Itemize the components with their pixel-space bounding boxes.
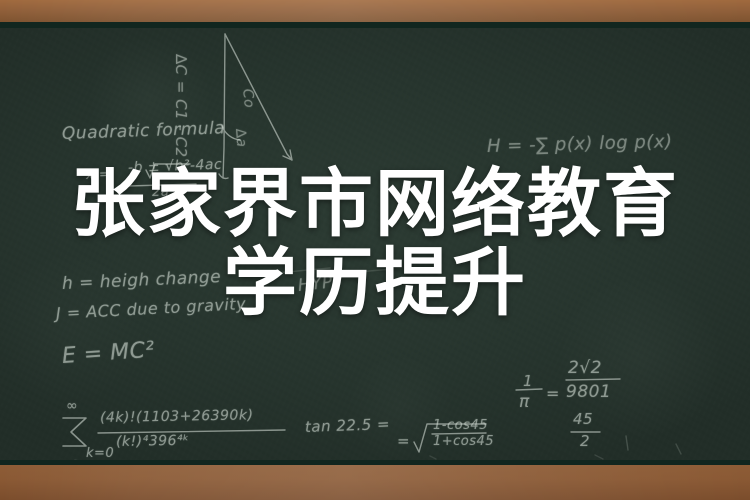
wooden-frame-bottom xyxy=(0,465,750,500)
wooden-frame-top xyxy=(0,0,750,22)
poster-title-line-1: 张家界市网络教育 xyxy=(0,168,750,241)
poster-title: 张家界市网络教育 学历提升 xyxy=(0,168,750,319)
wood-sheen-bottom xyxy=(0,465,750,500)
poster-title-line-2: 学历提升 xyxy=(0,247,750,320)
poster-canvas: Quadratic formula x = -b ± √b²-4ac 2a H … xyxy=(0,0,750,500)
wood-sheen-top xyxy=(0,0,750,22)
